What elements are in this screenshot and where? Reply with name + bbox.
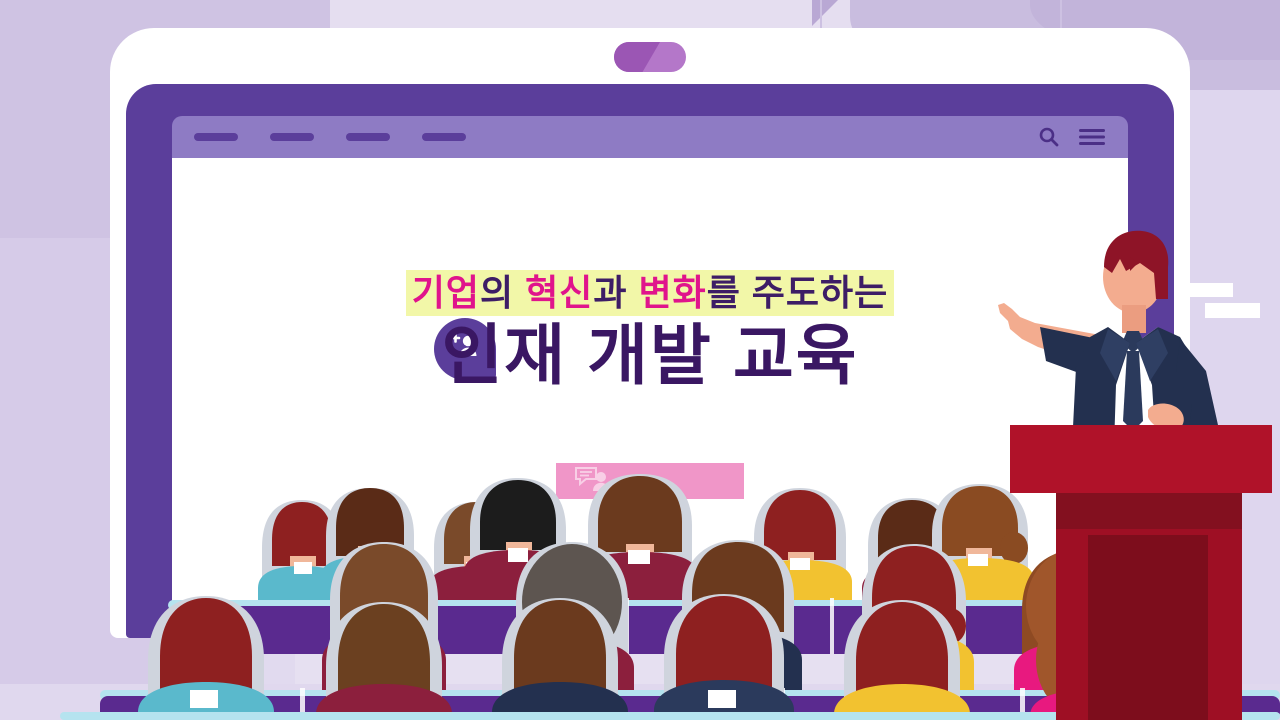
- podium-top-plate: [1010, 425, 1272, 493]
- presenter-neck: [1122, 305, 1146, 333]
- scene-root: 기업의 혁신과 변화를 주도하는 인재 개발 교육: [0, 0, 1280, 720]
- podium: [1010, 425, 1272, 720]
- podium-body-shade: [1056, 493, 1242, 529]
- podium-inset-panel: [1088, 535, 1208, 720]
